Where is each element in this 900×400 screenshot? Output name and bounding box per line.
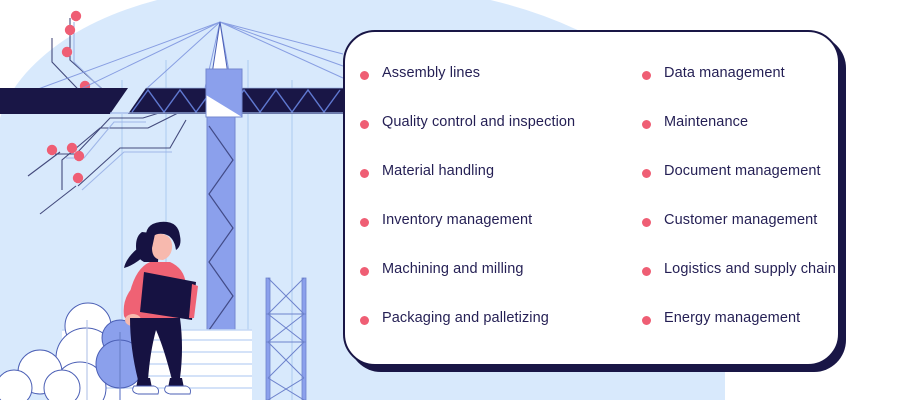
feature-list-card: Assembly lines Quality control and inspe…	[343, 30, 840, 366]
feature-item-label: Inventory management	[382, 213, 532, 228]
feature-item-label: Packaging and palletizing	[382, 311, 549, 326]
feature-item-label: Assembly lines	[382, 66, 480, 81]
feature-columns: Assembly lines Quality control and inspe…	[345, 32, 838, 364]
bullet-dot-icon	[642, 71, 651, 80]
bullet-dot-icon	[360, 120, 369, 129]
feature-column-right: Data management Maintenance Document man…	[642, 66, 842, 364]
bullet-dot-icon	[642, 218, 651, 227]
bullet-dot-icon	[360, 267, 369, 276]
worker-shoe-right	[165, 386, 191, 394]
feature-item-label: Quality control and inspection	[382, 115, 575, 130]
worker-shoe-left	[133, 386, 159, 394]
dot-icon	[47, 145, 57, 155]
dot-icon	[74, 151, 84, 161]
feature-item-label: Customer management	[664, 213, 817, 228]
feature-item[interactable]: Packaging and palletizing	[360, 311, 642, 360]
feature-item[interactable]: Logistics and supply chain	[642, 262, 842, 311]
feature-item[interactable]: Inventory management	[360, 213, 642, 262]
feature-item[interactable]: Energy management	[642, 311, 842, 360]
feature-column-left: Assembly lines Quality control and inspe…	[345, 66, 642, 364]
feature-item[interactable]: Quality control and inspection	[360, 115, 642, 164]
feature-item[interactable]: Machining and milling	[360, 262, 642, 311]
feature-item-label: Data management	[664, 66, 785, 81]
feature-item-label: Document management	[664, 164, 821, 179]
dot-icon	[65, 25, 75, 35]
feature-item-label: Machining and milling	[382, 262, 524, 277]
bullet-dot-icon	[360, 71, 369, 80]
bullet-dot-icon	[642, 316, 651, 325]
feature-item[interactable]: Data management	[642, 66, 842, 115]
bullet-dot-icon	[642, 169, 651, 178]
feature-item[interactable]: Document management	[642, 164, 842, 213]
bullet-dot-icon	[642, 267, 651, 276]
dot-icon	[71, 11, 81, 21]
bullet-dot-icon	[360, 316, 369, 325]
bullet-dot-icon	[642, 120, 651, 129]
bullet-dot-icon	[360, 169, 369, 178]
feature-item-label: Material handling	[382, 164, 494, 179]
dot-icon	[67, 143, 77, 153]
screenshot-root: Assembly lines Quality control and inspe…	[0, 0, 900, 400]
dot-icon	[73, 173, 83, 183]
feature-item-label: Energy management	[664, 311, 800, 326]
feature-item[interactable]: Maintenance	[642, 115, 842, 164]
feature-item[interactable]: Material handling	[360, 164, 642, 213]
feature-item-label: Maintenance	[664, 115, 748, 130]
feature-item-label: Logistics and supply chain	[664, 262, 836, 277]
bullet-dot-icon	[360, 218, 369, 227]
dot-icon	[62, 47, 72, 57]
feature-item[interactable]: Customer management	[642, 213, 842, 262]
feature-item[interactable]: Assembly lines	[360, 66, 642, 115]
